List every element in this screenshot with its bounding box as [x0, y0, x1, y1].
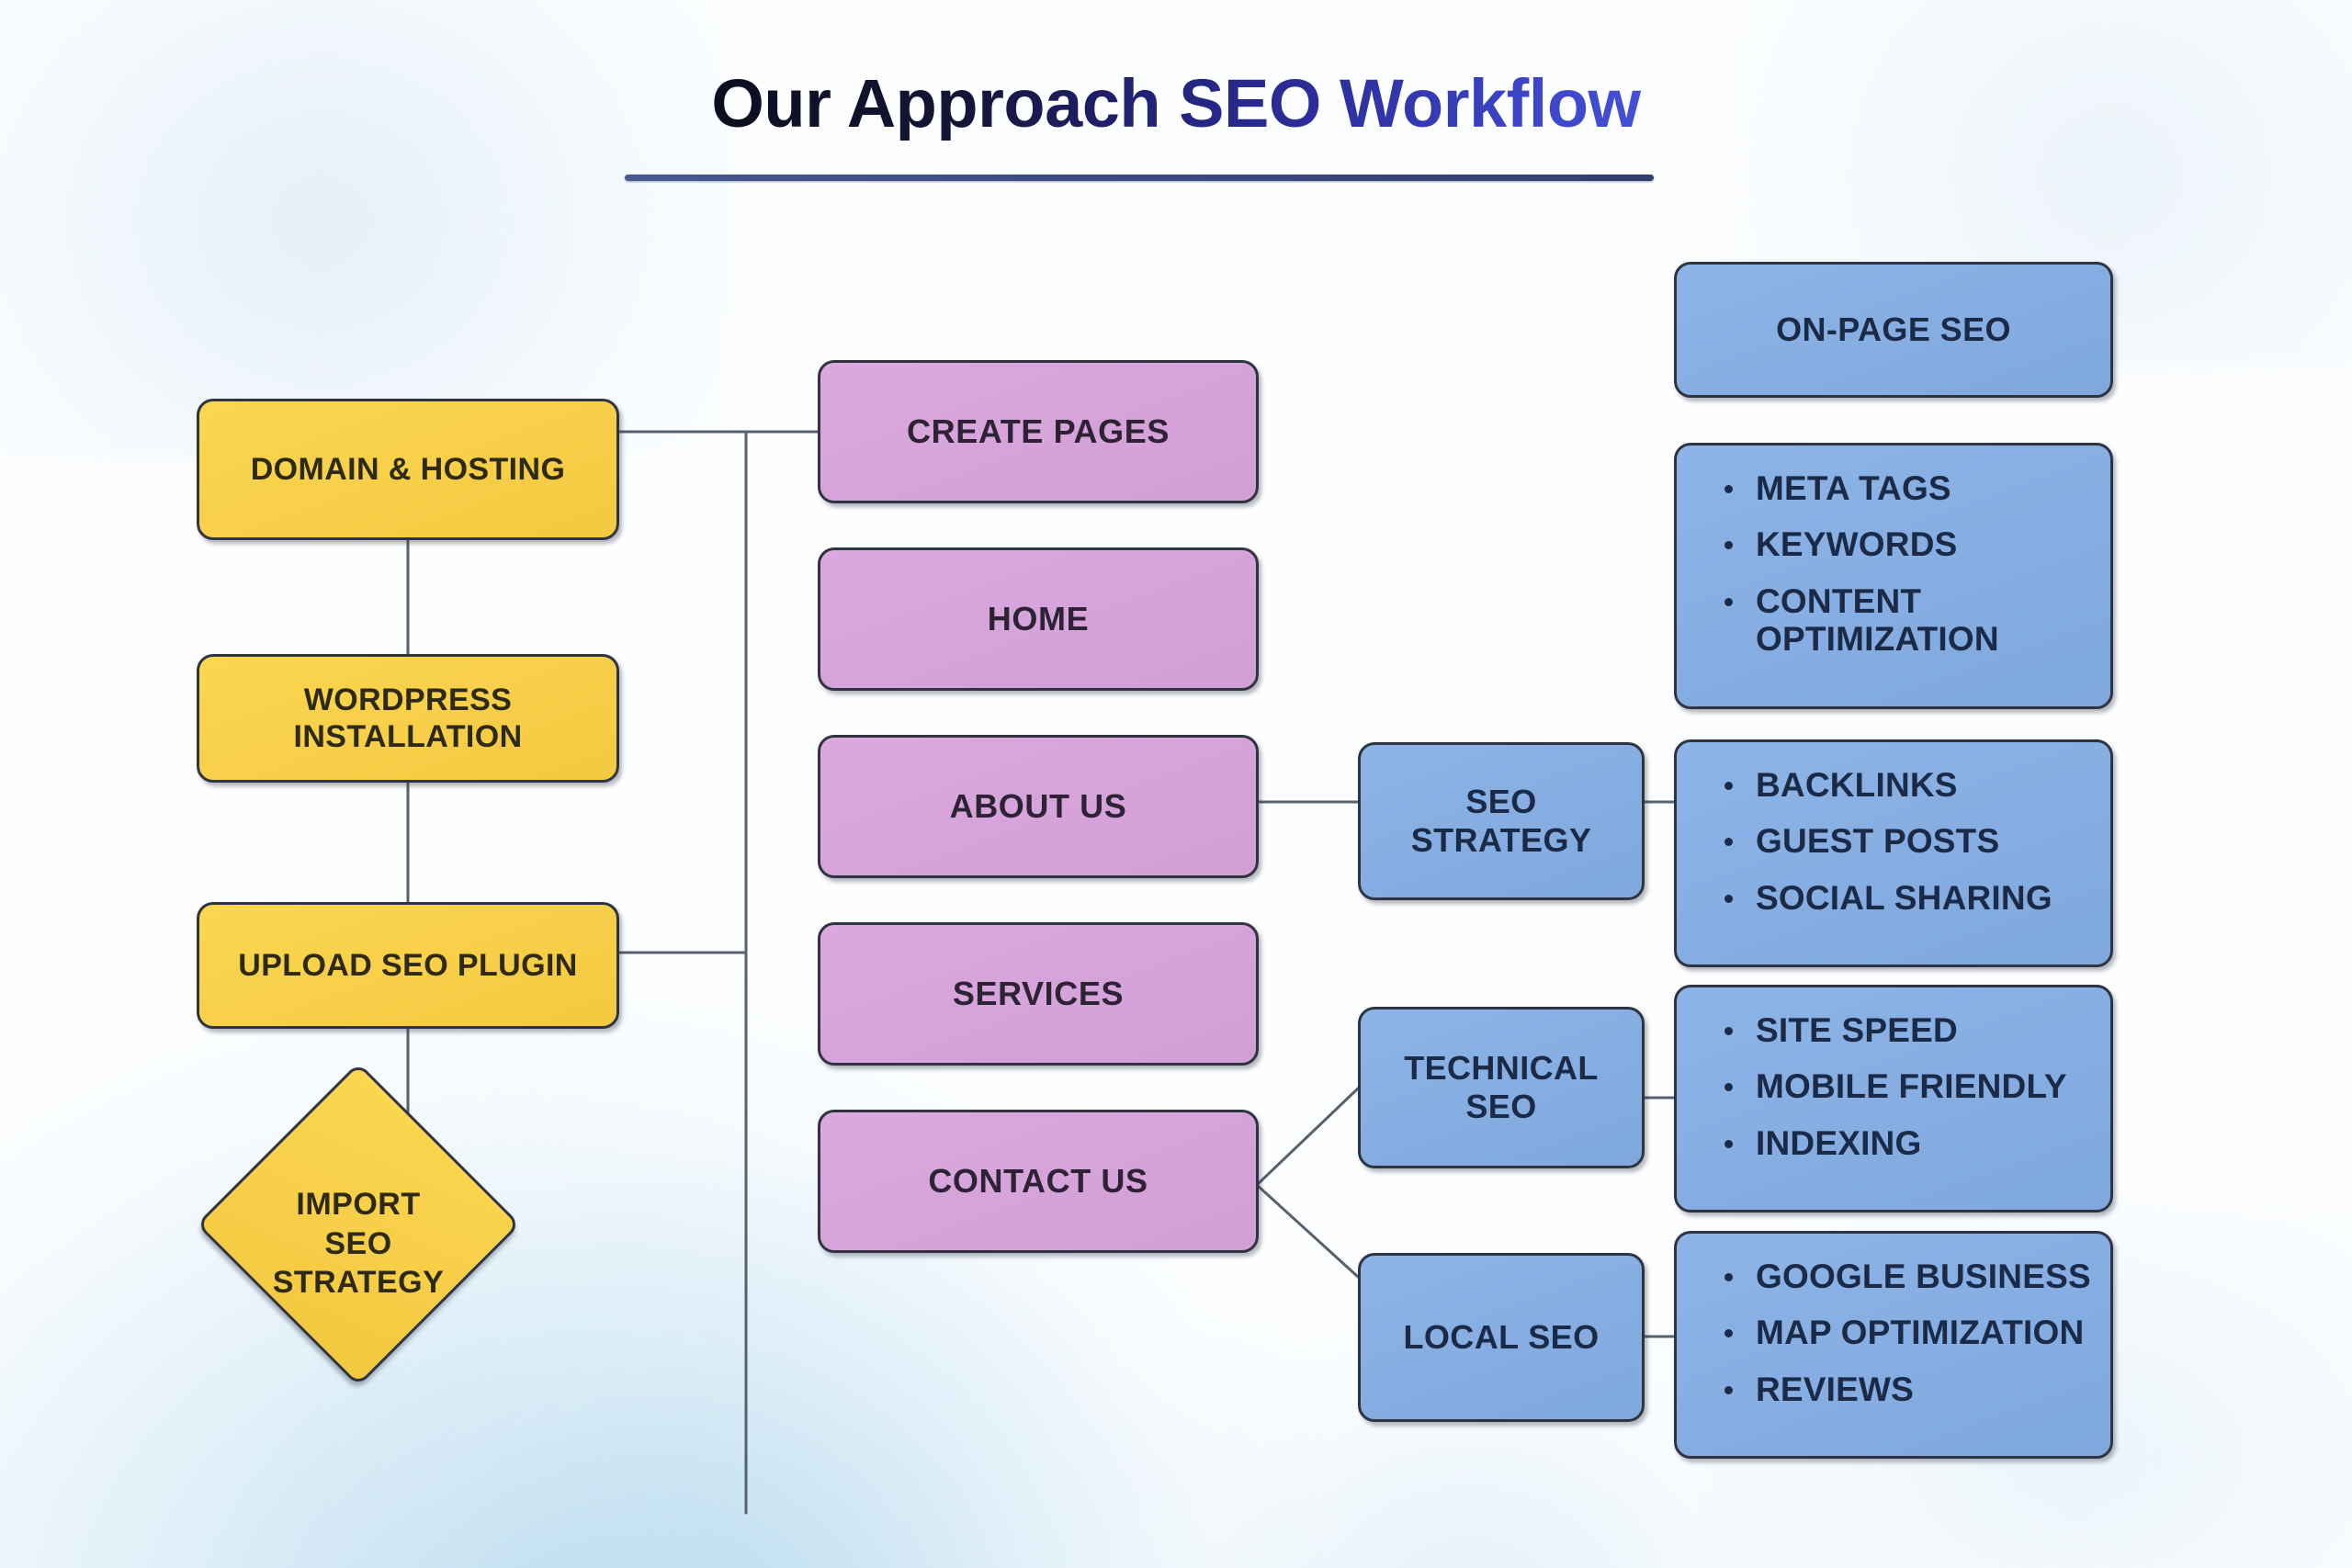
bullet-list-technical-seo: SITE SPEED MOBILE FRIENDLY INDEXING [1719, 1011, 2092, 1162]
node-label: CONTACT US [928, 1162, 1148, 1201]
node-label: WORDPRESS INSTALLATION [221, 682, 594, 755]
node-import-seo-strategy-label: IMPORT SEO STRATEGY [193, 1185, 524, 1303]
node-on-page-seo[interactable]: ON-PAGE SEO [1674, 262, 2113, 398]
list-item: SITE SPEED [1719, 1011, 2092, 1049]
list-item: GOOGLE BUSINESS [1719, 1258, 2092, 1295]
node-domain-hosting[interactable]: DOMAIN & HOSTING [197, 399, 619, 540]
node-label: TECHNICAL SEO [1374, 1049, 1629, 1127]
list-item: REVIEWS [1719, 1371, 2092, 1408]
node-label: CREATE PAGES [907, 412, 1170, 451]
seo-workflow-diagram: Our Approach SEO Workflow [0, 0, 2352, 1568]
diamond-line-3: STRATEGY [193, 1263, 524, 1303]
list-item: MAP OPTIMIZATION [1719, 1314, 2092, 1351]
node-label: HOME [988, 600, 1089, 638]
list-item: BACKLINKS [1719, 766, 2092, 804]
bullet-list-seo-strategy: BACKLINKS GUEST POSTS SOCIAL SHARING [1719, 766, 2092, 917]
list-item: MOBILE FRIENDLY [1719, 1067, 2092, 1105]
node-contact-us[interactable]: CONTACT US [818, 1110, 1259, 1253]
node-technical-seo-items[interactable]: SITE SPEED MOBILE FRIENDLY INDEXING [1674, 985, 2113, 1213]
node-create-pages[interactable]: CREATE PAGES [818, 360, 1259, 503]
node-on-page-seo-items[interactable]: META TAGS KEYWORDS CONTENT OPTIMIZATION [1674, 443, 2113, 709]
list-item: GUEST POSTS [1719, 822, 2092, 860]
node-seo-strategy-items[interactable]: BACKLINKS GUEST POSTS SOCIAL SHARING [1674, 739, 2113, 967]
list-item: KEYWORDS [1719, 525, 2092, 563]
node-label: DOMAIN & HOSTING [251, 451, 566, 488]
node-local-seo-items[interactable]: GOOGLE BUSINESS MAP OPTIMIZATION REVIEWS [1674, 1231, 2113, 1459]
node-wordpress-installation[interactable]: WORDPRESS INSTALLATION [197, 654, 619, 783]
list-item: CONTENT OPTIMIZATION [1719, 582, 2092, 659]
node-label: SEO STRATEGY [1377, 783, 1625, 861]
node-label: LOCAL SEO [1404, 1318, 1600, 1357]
bullet-list-on-page-seo: META TAGS KEYWORDS CONTENT OPTIMIZATION [1719, 469, 2092, 659]
node-home[interactable]: HOME [818, 547, 1259, 691]
list-item: META TAGS [1719, 469, 2092, 507]
edge-contact-to-local [1257, 1185, 1358, 1277]
node-label: ABOUT US [950, 787, 1127, 826]
node-technical-seo[interactable]: TECHNICAL SEO [1358, 1007, 1645, 1168]
node-label: UPLOAD SEO PLUGIN [238, 947, 578, 984]
edge-contact-to-technical [1257, 1089, 1358, 1185]
list-item: SOCIAL SHARING [1719, 879, 2092, 917]
node-label: ON-PAGE SEO [1776, 310, 2011, 349]
node-seo-strategy[interactable]: SEO STRATEGY [1358, 742, 1645, 900]
node-label: SERVICES [953, 975, 1124, 1013]
diamond-line-2: SEO [193, 1224, 524, 1264]
node-upload-seo-plugin[interactable]: UPLOAD SEO PLUGIN [197, 902, 619, 1029]
node-services[interactable]: SERVICES [818, 922, 1259, 1066]
list-item: INDEXING [1719, 1124, 2092, 1162]
node-local-seo[interactable]: LOCAL SEO [1358, 1253, 1645, 1422]
diamond-line-1: IMPORT [193, 1185, 524, 1224]
node-about-us[interactable]: ABOUT US [818, 735, 1259, 878]
bullet-list-local-seo: GOOGLE BUSINESS MAP OPTIMIZATION REVIEWS [1719, 1258, 2092, 1408]
